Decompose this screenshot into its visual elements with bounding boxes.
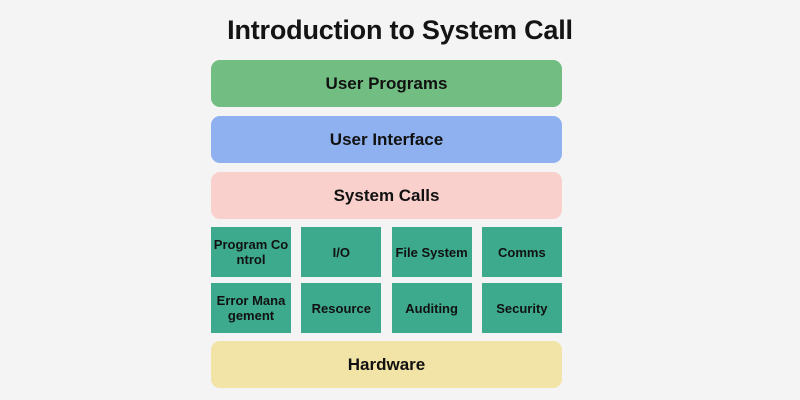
layer-hardware: Hardware bbox=[211, 341, 562, 388]
service-cell-io: I/O bbox=[301, 227, 381, 277]
service-cell-auditing-label: Auditing bbox=[405, 301, 458, 316]
layer-stack: User Programs User Interface System Call… bbox=[211, 60, 562, 396]
service-cell-comms: Comms bbox=[482, 227, 562, 277]
service-cell-resource: Resource bbox=[301, 283, 381, 333]
layer-system-calls-label: System Calls bbox=[334, 186, 440, 206]
layer-user-interface-label: User Interface bbox=[330, 130, 443, 150]
service-cell-error-management-label: Error Management bbox=[213, 293, 289, 323]
layer-user-programs: User Programs bbox=[211, 60, 562, 107]
service-cell-file-system: File System bbox=[392, 227, 472, 277]
service-cell-security-label: Security bbox=[496, 301, 547, 316]
service-cell-file-system-label: File System bbox=[395, 245, 467, 260]
page-title: Introduction to System Call bbox=[0, 13, 800, 47]
service-cell-comms-label: Comms bbox=[498, 245, 546, 260]
layer-hardware-label: Hardware bbox=[348, 355, 425, 375]
layer-user-programs-label: User Programs bbox=[326, 74, 448, 94]
diagram-canvas: Introduction to System Call User Program… bbox=[0, 0, 800, 400]
service-cell-program-control-label: Program Control bbox=[213, 237, 289, 267]
service-cell-resource-label: Resource bbox=[312, 301, 371, 316]
service-cell-error-management: Error Management bbox=[211, 283, 291, 333]
layer-user-interface: User Interface bbox=[211, 116, 562, 163]
service-cell-program-control: Program Control bbox=[211, 227, 291, 277]
service-cell-auditing: Auditing bbox=[392, 283, 472, 333]
system-call-service-grid: Program Control I/O File System Comms Er… bbox=[211, 227, 562, 333]
service-cell-security: Security bbox=[482, 283, 562, 333]
service-cell-io-label: I/O bbox=[333, 245, 350, 260]
layer-system-calls: System Calls bbox=[211, 172, 562, 219]
